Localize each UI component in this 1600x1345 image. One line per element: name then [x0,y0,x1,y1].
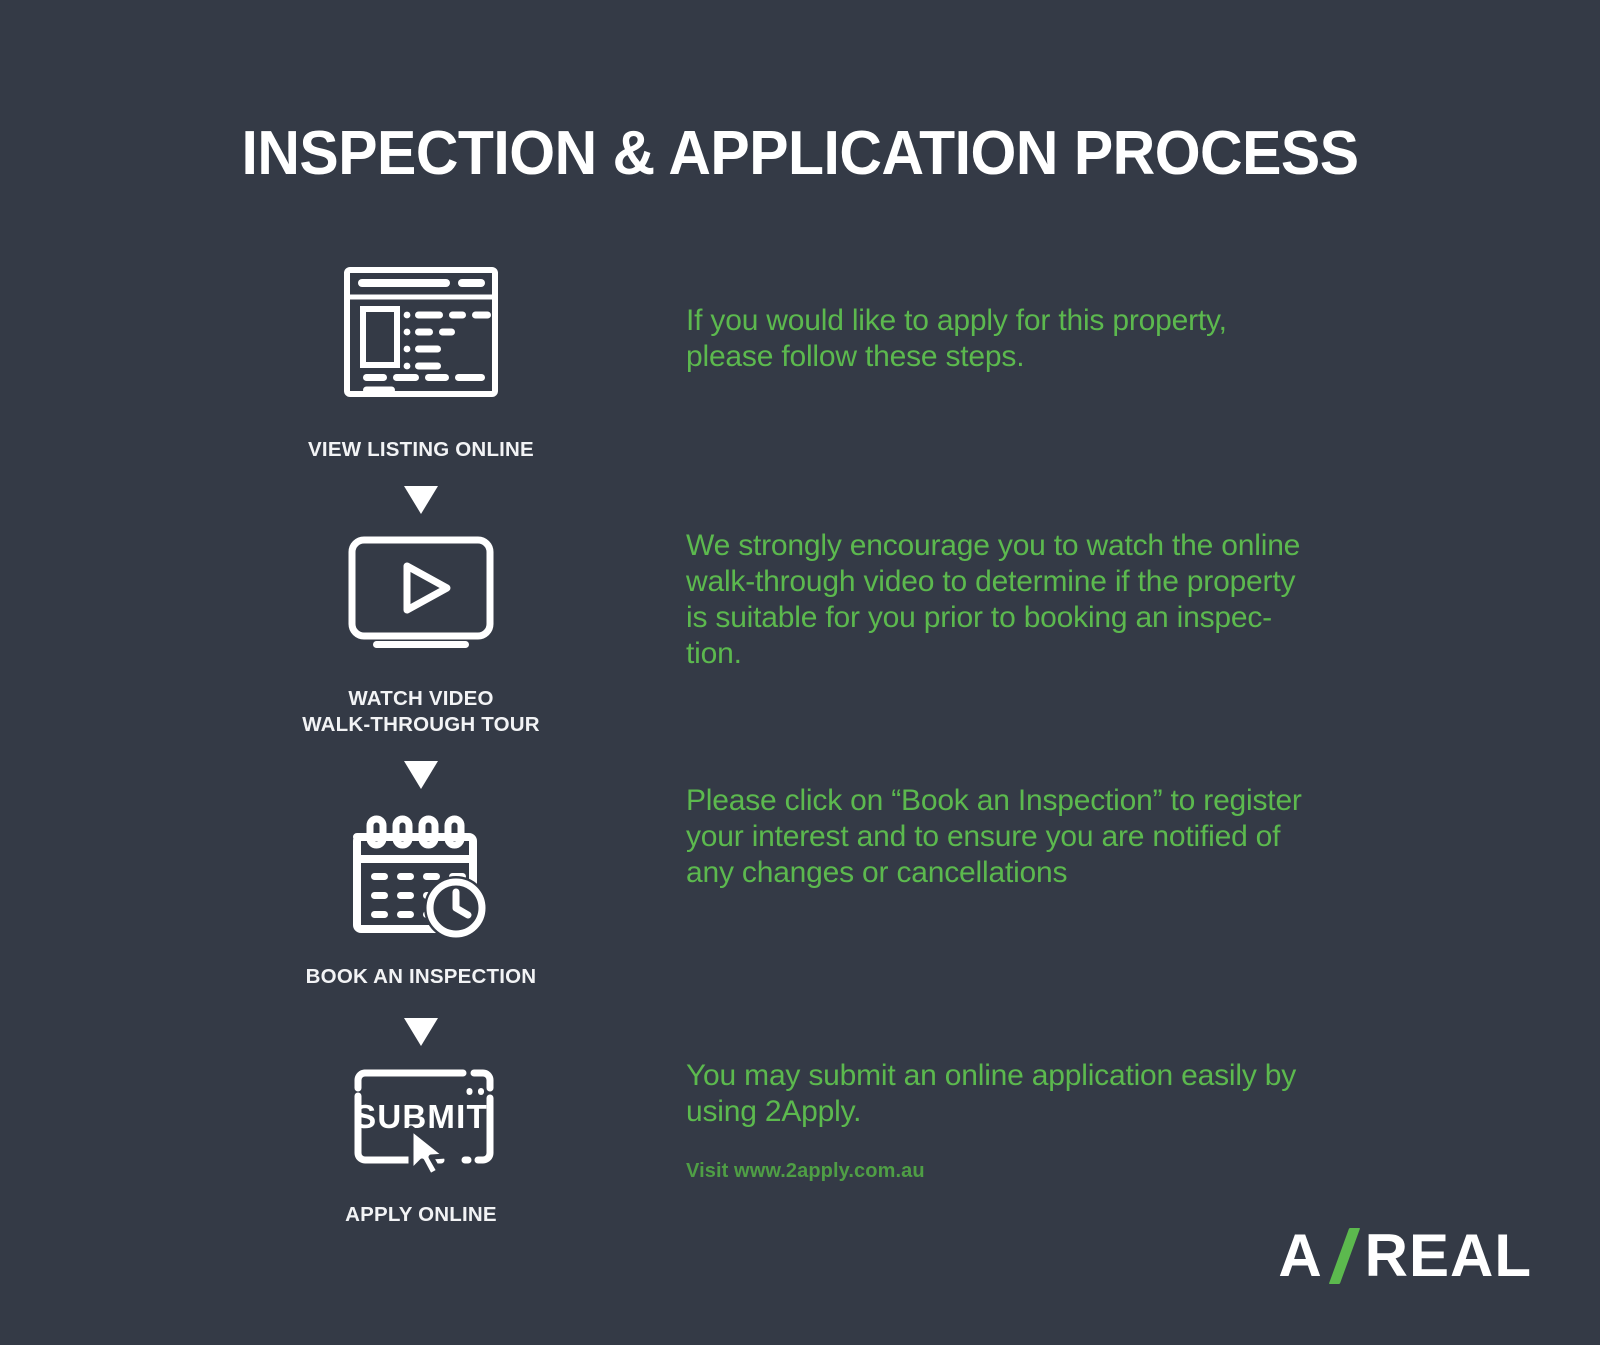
flow-arrow-1 [268,486,574,514]
step-label-apply-online: APPLY ONLINE [345,1202,497,1228]
logo-letter-a: A [1278,1221,1322,1290]
copy-intro: If you would like to apply for this prop… [686,303,1227,375]
spacer-1 [268,514,574,535]
step-view-listing-online[interactable]: VIEW LISTING ONLINE [268,262,574,463]
step-watch-video-walkthrough[interactable]: WATCH VIDEO WALK-THROUGH TOUR [268,535,574,738]
brand-logo[interactable]: A REAL [1278,1221,1532,1290]
process-steps-column: VIEW LISTING ONLINE WATCH VIDEO WALK-THR… [268,262,574,1228]
video-play-monitor-icon [347,535,495,656]
submit-icon-label: SUBMIT [354,1098,488,1135]
flow-arrow-2 [268,761,574,789]
submit-button-cursor-icon: SUBMIT [345,1066,497,1179]
infographic-root: INSPECTION & APPLICATION PROCESS [0,0,1600,1345]
copy-book-inspection: Please click on “Book an Inspection” to … [686,783,1302,891]
step-book-an-inspection[interactable]: BOOK AN INSPECTION [268,807,574,990]
logo-word-real: REAL [1365,1221,1532,1290]
copy-apply-online: You may submit an online application eas… [686,1058,1296,1130]
step-label-watch-video-walkthrough: WATCH VIDEO WALK-THROUGH TOUR [302,686,540,738]
spacer-3 [268,1046,574,1066]
visit-2apply-link[interactable]: Visit www.2apply.com.au [686,1160,925,1183]
step-label-book-an-inspection: BOOK AN INSPECTION [306,964,537,990]
down-arrow-icon [404,761,438,789]
flow-arrow-3 [268,1018,574,1046]
step-label-view-listing-online: VIEW LISTING ONLINE [308,437,534,463]
copy-watch-video: We strongly encourage you to watch the o… [686,528,1300,672]
page-title: INSPECTION & APPLICATION PROCESS [40,118,1560,189]
calendar-clock-icon [349,807,493,946]
step-apply-online[interactable]: SUBMIT APPLY ONLINE [268,1066,574,1228]
listing-window-icon [341,262,501,407]
logo-slash-icon [1329,1228,1363,1284]
down-arrow-icon [404,1018,438,1046]
spacer-2 [268,789,574,807]
down-arrow-icon [404,486,438,514]
